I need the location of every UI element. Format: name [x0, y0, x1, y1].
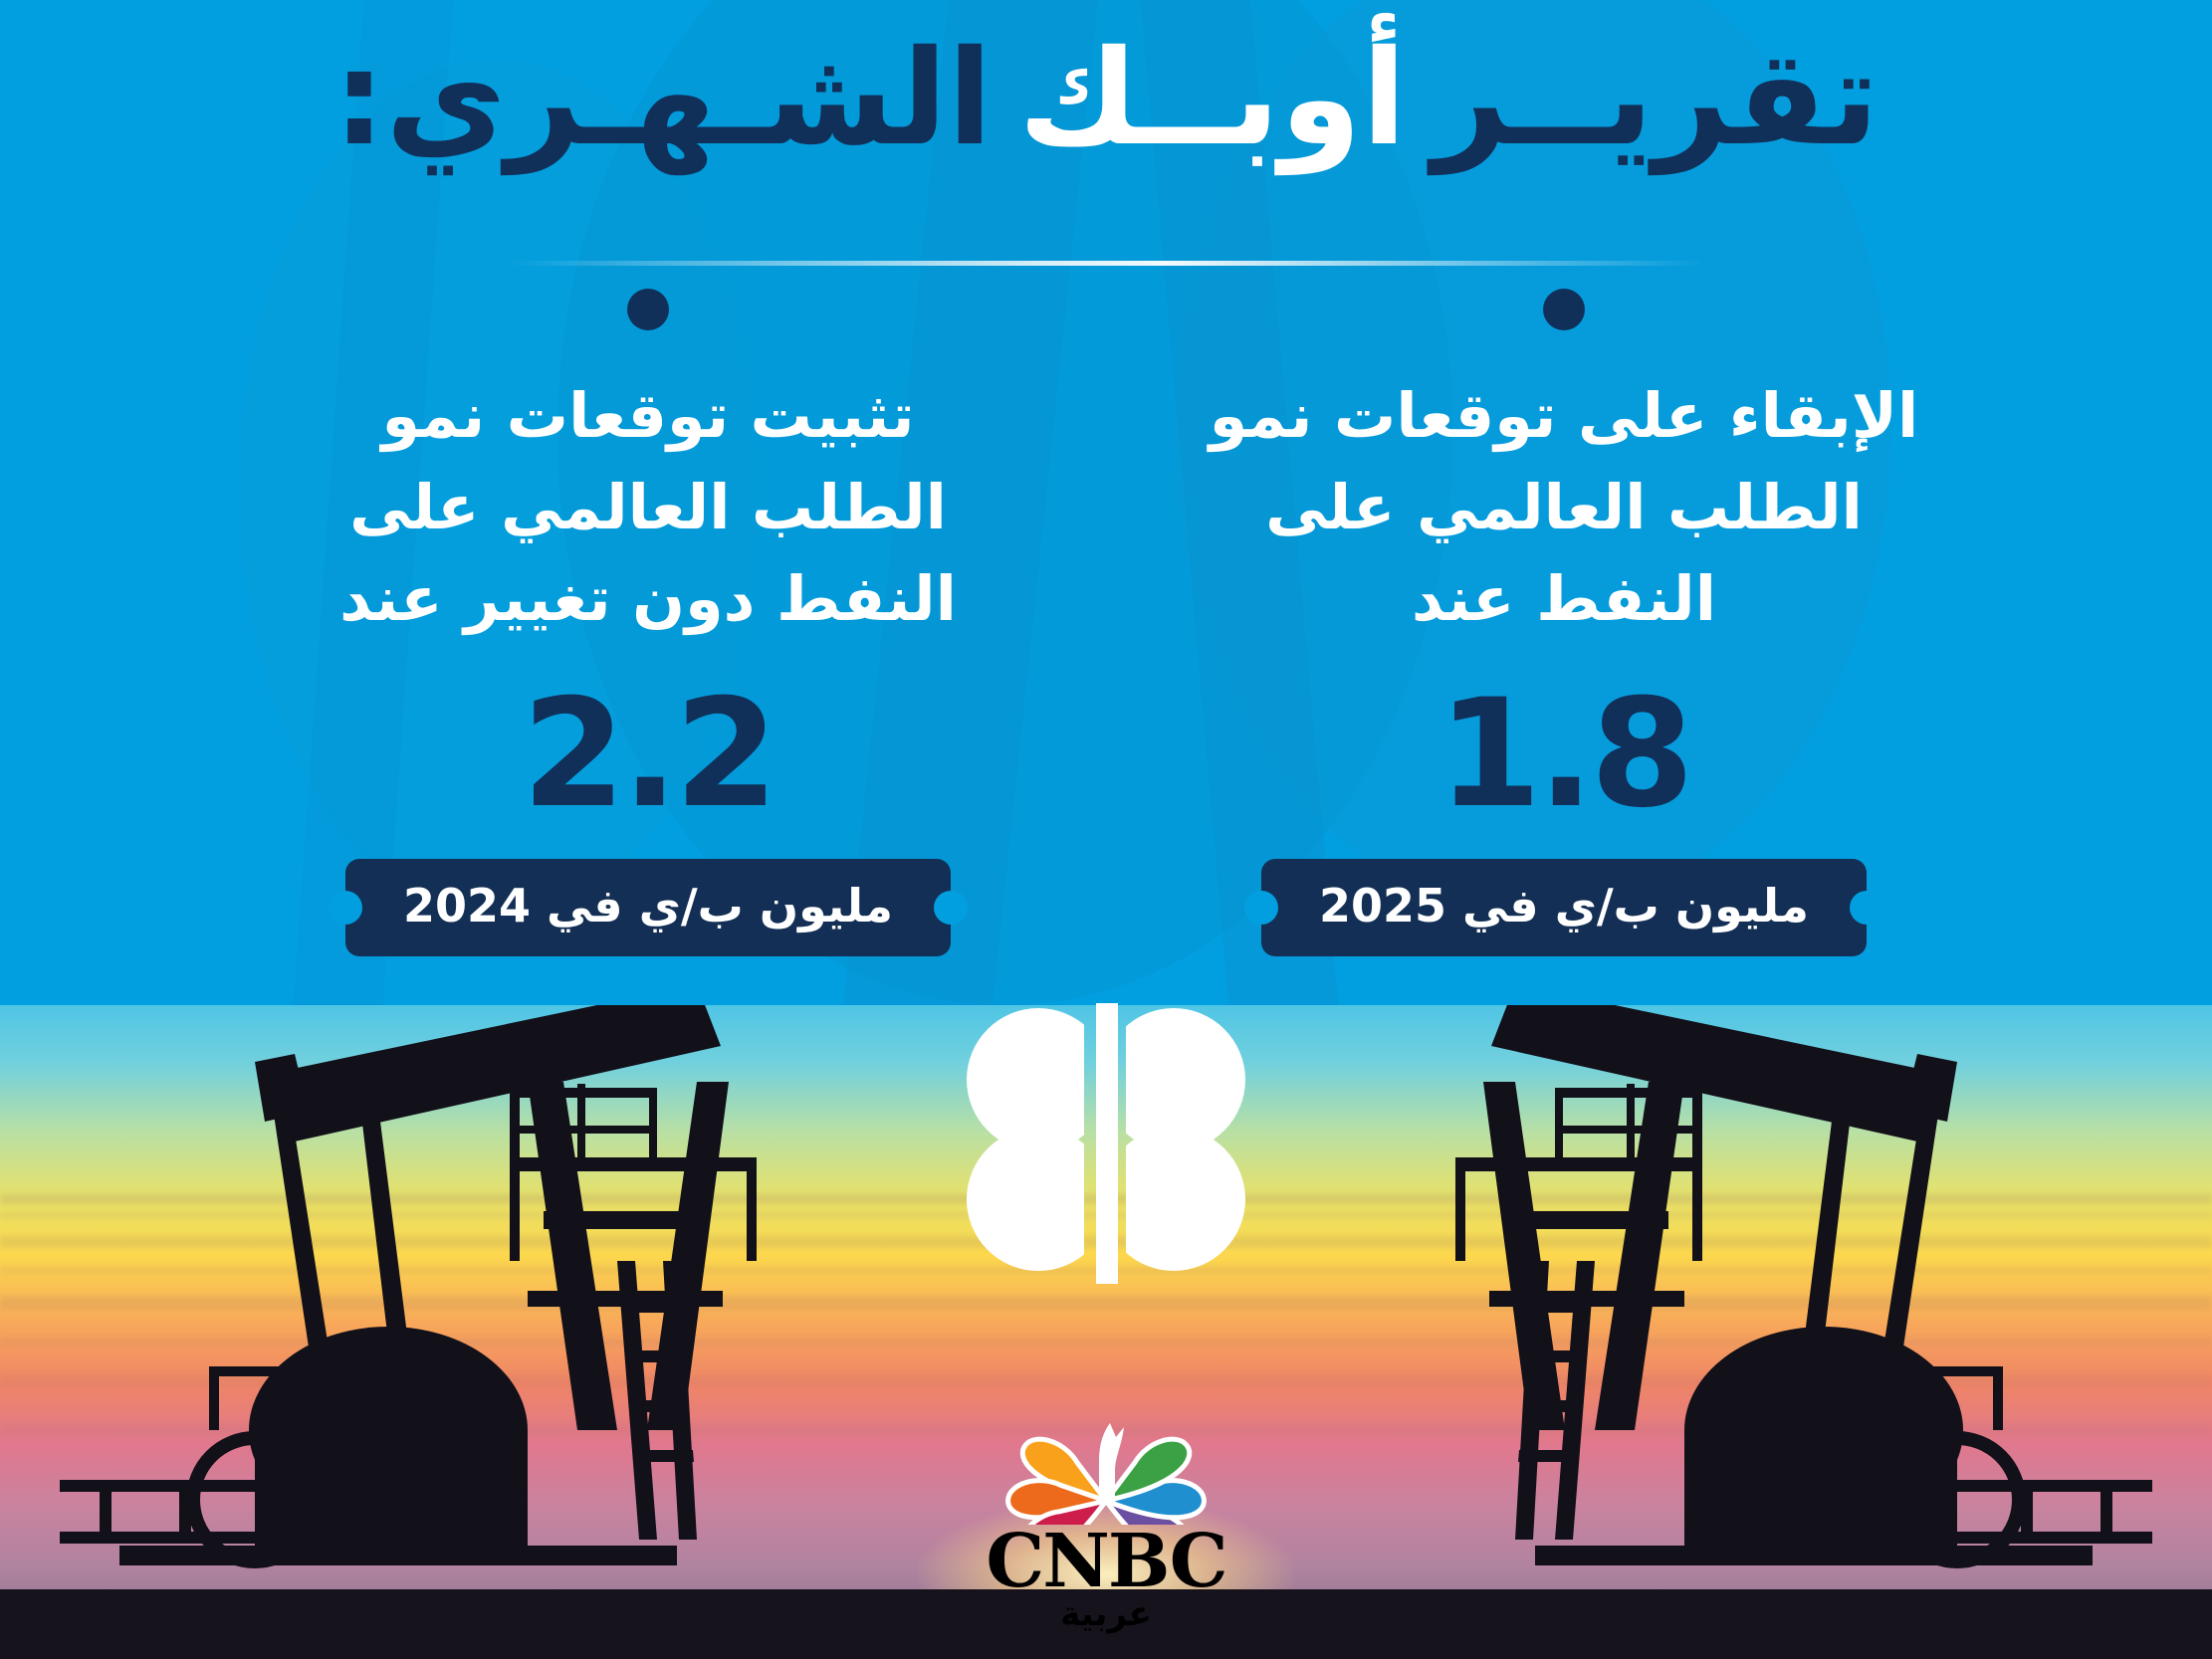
cnbc-wordmark: CNBC	[957, 1527, 1255, 1596]
stat-description-right: تثبيت توقعات نمو الطلب العالمي على النفط…	[265, 370, 1031, 644]
stat-value-right: 2.2	[522, 680, 774, 829]
bullet-dot-icon	[627, 289, 669, 330]
title-part-opec: أوبــك	[1018, 22, 1407, 175]
title-part-report: تقريــر	[1433, 22, 1880, 175]
pumpjack-right	[1436, 962, 2152, 1599]
stat-value-left: 1.8	[1438, 680, 1690, 829]
infographic-canvas: تقريــرأوبــكالشـهـري: تثبيت توقعات نمو …	[0, 0, 2212, 1659]
stat-column-left: الإبقاء على توقعات نمو الطلب العالمي على…	[1181, 289, 1947, 956]
nbc-peacock-icon	[1001, 1405, 1211, 1525]
page-title: تقريــرأوبــكالشـهـري:	[0, 22, 2212, 177]
pumpjack-left	[60, 962, 776, 1599]
stat-badge-left: مليون ب/ي في 2025	[1261, 859, 1867, 956]
stat-badge-right: مليون ب/ي في 2024	[345, 859, 951, 956]
stats-columns: تثبيت توقعات نمو الطلب العالمي على النفط…	[0, 289, 2212, 956]
title-divider	[509, 261, 1703, 266]
cnbc-logo: CNBC عربية	[957, 1405, 1255, 1634]
stat-description-left: الإبقاء على توقعات نمو الطلب العالمي على…	[1181, 370, 1947, 644]
stat-column-right: تثبيت توقعات نمو الطلب العالمي على النفط…	[265, 289, 1031, 956]
opec-logo-icon	[957, 995, 1255, 1284]
bullet-dot-icon	[1543, 289, 1585, 330]
title-part-monthly: الشـهـري:	[333, 22, 993, 175]
